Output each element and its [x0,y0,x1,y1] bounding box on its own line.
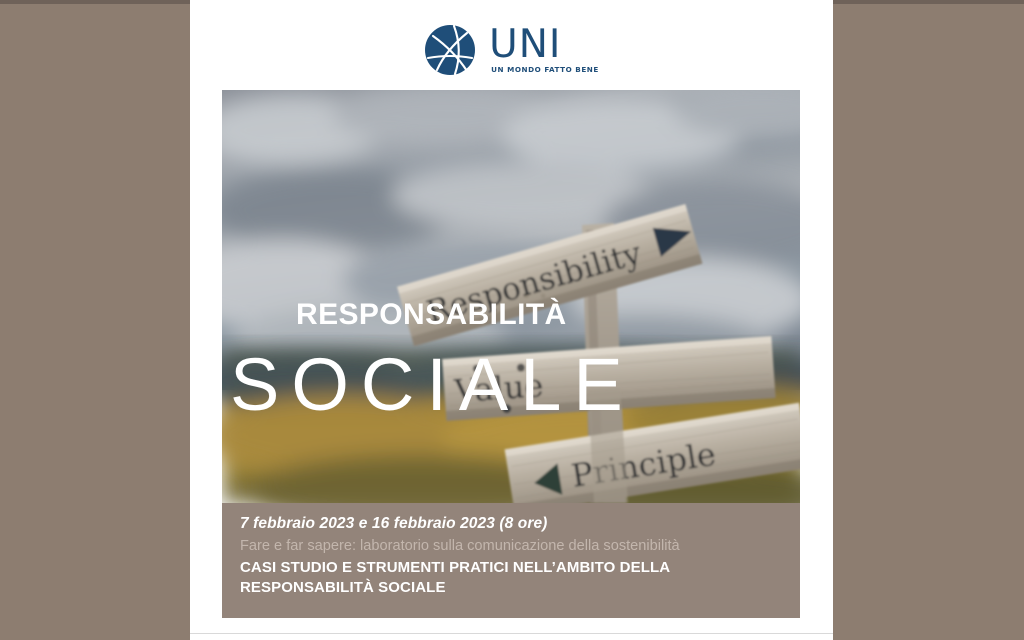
page-bottom-rule [190,633,833,634]
caption-banner: 7 febbraio 2023 e 16 febbraio 2023 (8 or… [222,503,800,618]
event-date: 7 febbraio 2023 e 16 febbraio 2023 (8 or… [240,514,782,533]
uni-logo: UNI UN MONDO FATTO BENE [190,24,833,76]
document-page: UNI UN MONDO FATTO BENE [190,0,833,640]
svg-text:Value: Value [452,366,544,410]
uni-wordmark-text: UNI [489,26,561,63]
uni-globe-mark-icon [424,24,476,76]
event-title: CASI STUDIO E STRUMENTI PRATICI NELL’AMB… [240,558,760,597]
hero-photo: Responsibility Value [222,90,800,503]
event-subtitle: Fare e far sapere: laboratorio sulla com… [240,537,710,556]
uni-wordmark: UNI UN MONDO FATTO BENE [489,26,599,74]
uni-tagline: UN MONDO FATTO BENE [489,65,599,74]
